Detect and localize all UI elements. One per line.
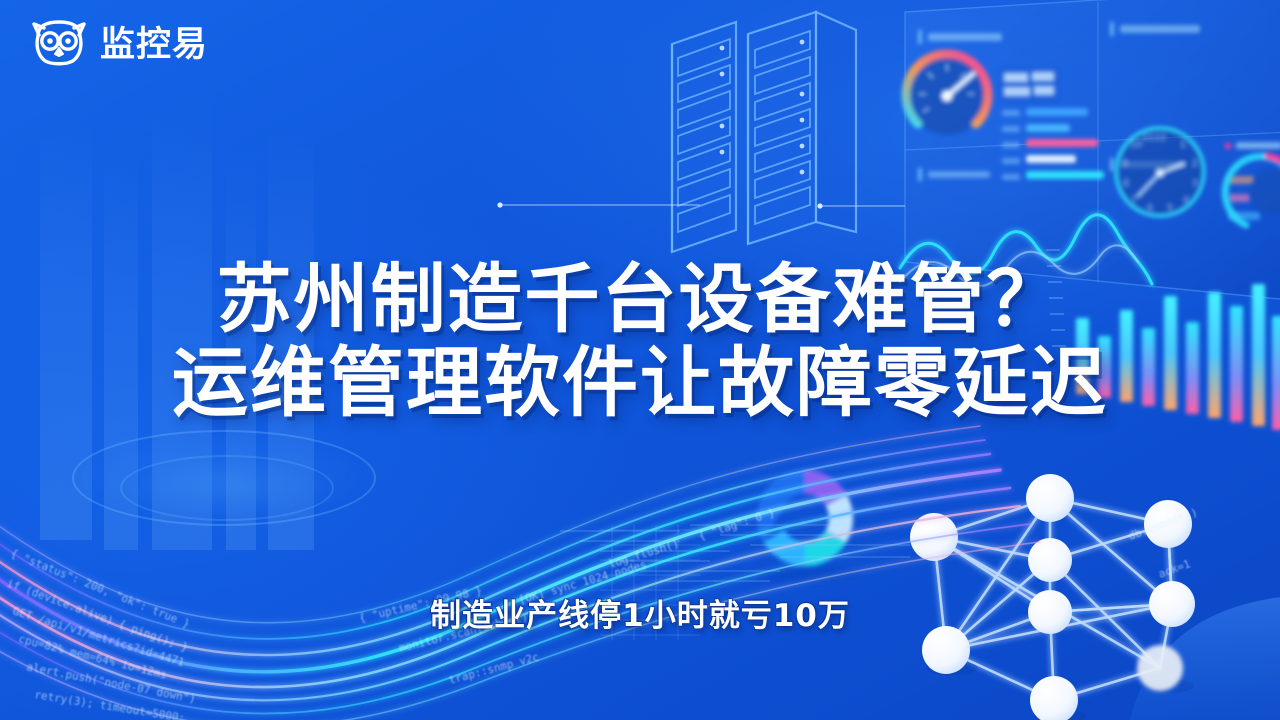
svg-text:5: 5 [1167,204,1173,214]
svg-text:10: 10 [1130,140,1142,150]
brand-logo[interactable]: 监控易 [30,18,208,73]
svg-text:4: 4 [1183,196,1189,206]
svg-text:3: 3 [1192,179,1198,189]
svg-text:1: 1 [1180,140,1186,150]
poster-canvas: 121 23 45 67 89 1011 [0,0,1280,720]
svg-text:trap::snmp v2c: trap::snmp v2c [447,650,540,687]
svg-text:9: 9 [1122,159,1128,169]
svg-text:retry(3); timeout=5000;: retry(3); timeout=5000; [34,688,186,720]
dashboard-readout [1000,68,1058,102]
dot-matrix-texture [560,524,910,582]
dashboard-legend [1224,142,1280,220]
svg-text:8: 8 [1123,179,1129,189]
brand-name: 监控易 [100,28,208,63]
svg-text:12: 12 [1154,133,1165,143]
headline-line-2: 运维管理软件让故障零延迟 [0,341,1280,425]
subtitle-text: 制造业产线停1小时就亏10万 [430,590,850,635]
dashboard-bar-list [1002,108,1104,180]
svg-text:{ "lag": 0 }: { "lag": 0 } [697,506,777,543]
owl-face-icon [30,18,88,73]
clock-gauge: 121 23 45 67 89 1011 [1116,128,1204,216]
svg-text:6: 6 [1147,204,1153,214]
svg-text:2: 2 [1192,159,1198,169]
svg-text:log.flush(): log.flush() [607,537,680,571]
svg-text:cpu=82% mem=64% io=12ms: cpu=82% mem=64% io=12ms [17,632,168,681]
headline-line-1: 苏州制造千台设备难管？ [0,258,1280,341]
arc-gauge [1225,156,1280,225]
speed-gauge [906,53,988,135]
subtitle: 制造业产线停1小时就亏10万 [0,590,1280,635]
server-rack-illustration [672,12,856,252]
svg-text:alert.push("node-07 down"): alert.push("node-07 down") [25,660,197,706]
svg-text:11: 11 [1142,133,1153,143]
svg-text:7: 7 [1131,196,1137,206]
platform-glow-disc [120,455,334,521]
connector-line [497,202,905,208]
donut-chart [755,470,859,583]
svg-text:db.commit(): db.commit() [1127,506,1200,543]
page-title: 苏州制造千台设备难管？ 运维管理软件让故障零延迟 [0,258,1280,426]
svg-text:ack=1: ack=1 [1157,557,1193,581]
